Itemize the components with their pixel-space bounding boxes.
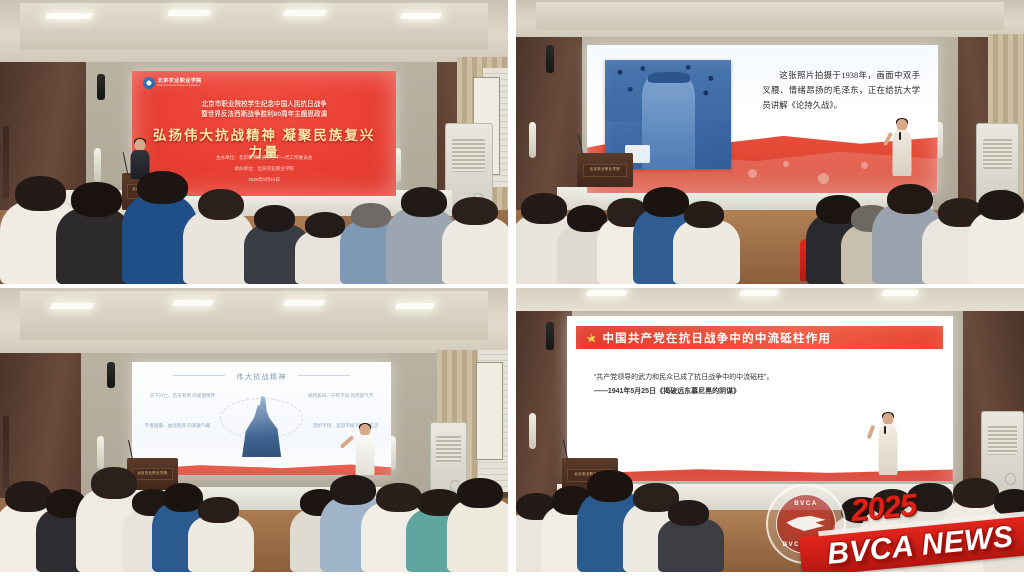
ceiling-light — [283, 300, 326, 306]
wall-strip-light — [94, 148, 101, 182]
slide-paragraph: 这张照片拍摄于1938年，画面中双手叉腰、情绪昂扬的毛泽东，正在给抗大学员讲解《… — [762, 69, 920, 114]
speaker-body — [131, 150, 150, 179]
podium-nameplate: 北京农业职业学院 — [132, 468, 173, 481]
slide-credit-line: 主办单位：北京教育系统关心下一代工作委员会 — [153, 152, 375, 163]
college-logo-mark — [143, 77, 155, 89]
ceiling-light — [171, 300, 214, 306]
lecturer — [887, 119, 917, 176]
ac-vent — [988, 426, 1017, 455]
stage-front-edge — [102, 487, 407, 510]
podium-nameplate-text: 北京农业职业学院 — [568, 470, 611, 478]
slide-subtitle-line: 暨世界反法西斯战争胜利80周年主题思政课 — [148, 110, 380, 120]
podium-nameplate-text: 北京农业职业学院 — [128, 185, 167, 193]
ac-knob — [472, 193, 484, 207]
ceiling-light — [586, 290, 629, 296]
ceiling-light — [44, 13, 93, 19]
ac-vent — [452, 139, 485, 172]
podium-nameplate-text: 北京农业职业学院 — [584, 165, 627, 173]
slide-credit-line: 承办单位：北京农业职业学院 — [153, 163, 375, 174]
ac-knob — [450, 480, 460, 492]
podium-nameplate-text: 北京农业职业学院 — [133, 469, 172, 477]
wall-speaker — [546, 322, 554, 350]
quadrant-label-top-left: 天下兴亡、匹夫有责 的爱国情怀 — [148, 392, 218, 400]
ceiling-slab — [20, 291, 487, 340]
air-conditioner — [445, 123, 493, 222]
lecturer-body — [355, 435, 374, 475]
ceiling — [516, 0, 1024, 40]
photograph-figure-cap — [648, 72, 691, 83]
ceiling — [0, 0, 508, 65]
slide-subtitle: 北京市职业院校学生纪念中国人民抗日战争 暨世界反法西斯战争胜利80周年主题思政课 — [148, 100, 380, 120]
podium-nameplate: 北京农业职业学院 — [127, 184, 168, 199]
podium-nameplate: 北京农业职业学院 — [583, 164, 628, 178]
quadrant-label-top-right: 视死如归、宁死不屈 的民族气节 — [306, 392, 376, 400]
podium: 北京农业职业学院 — [127, 458, 178, 489]
wall-scroll-artwork — [476, 362, 503, 461]
ceiling-light — [400, 13, 443, 19]
ac-vent — [436, 436, 462, 463]
lecturer-body — [878, 424, 897, 475]
floor-aisle — [679, 510, 831, 572]
party-emblem-icon — [585, 332, 596, 343]
slide-heading: 伟大抗战精神 — [132, 372, 391, 382]
wall-strip-light — [529, 413, 536, 449]
ceiling — [0, 288, 508, 356]
microphone — [884, 426, 887, 434]
podium: 北京农业职业学院 — [577, 153, 633, 187]
air-conditioner — [430, 422, 468, 504]
collage-panel-bottom-left[interactable]: 伟大抗战精神 天下兴亡、匹夫有责 的爱国情怀 视死如归、宁死不屈 的民族气节 不… — [0, 288, 508, 572]
ceiling — [516, 288, 1024, 314]
ceiling-light — [166, 10, 211, 16]
collage-panel-bottom-right[interactable]: 中国共产党在抗日战争中的中流砥柱作用 “共产党领导的武力和民众已成了抗日战争中的… — [516, 288, 1024, 572]
ceiling-slab — [536, 2, 1003, 31]
ac-knob — [1000, 189, 1011, 202]
slide-quote: “共产党领导的武力和民众已成了抗日战争中的中流砥柱”。 — [594, 371, 922, 386]
lecturer-body — [892, 130, 911, 176]
college-logo-name-en: Beijing Vocational College of Agricultur… — [158, 85, 202, 87]
slide-citation: ——1941年5月25日《揭破远东慕尼黑的阴谋》 — [594, 386, 740, 396]
wall-speaker — [546, 45, 554, 73]
slide-title: 中国共产党在抗日战争中的中流砥柱作用 — [602, 330, 831, 346]
slide-title-bar: 中国共产党在抗日战争中的中流砥柱作用 — [576, 326, 943, 349]
slide-credit-date: 2025年9月15日 — [153, 174, 375, 185]
floor-aisle — [709, 210, 821, 284]
lecturer — [872, 413, 904, 475]
ceiling-light — [738, 290, 779, 296]
left-wood-wall — [0, 353, 81, 509]
ceiling-light — [880, 290, 919, 296]
ac-vent — [983, 139, 1012, 170]
ceiling-slab — [20, 3, 487, 50]
quadrant-label-bottom-left: 不畏强暴、血战到底 的英雄气概 — [142, 422, 212, 430]
lecturer — [351, 424, 379, 475]
wall-strip-light — [529, 122, 536, 158]
ceiling-light — [49, 303, 94, 309]
ceiling-light — [395, 303, 436, 309]
college-logo: 北京农业职业学院 Beijing Vocational College of A… — [143, 77, 202, 89]
slide-subtitle-line: 北京市职业院校学生纪念中国人民抗日战争 — [148, 100, 380, 110]
slide-credits: 主办单位：北京教育系统关心下一代工作委员会 承办单位：北京农业职业学院 2025… — [153, 152, 375, 186]
slide-heading-text: 伟大抗战精神 — [228, 372, 294, 382]
podium: 北京农业职业学院 — [562, 458, 618, 492]
door — [3, 126, 9, 199]
wall-strip-light — [97, 436, 104, 470]
podium-nameplate: 北京农业职业学院 — [567, 469, 612, 483]
wall-speaker — [97, 74, 105, 100]
projection-screen: 这张照片拍摄于1938年，画面中双手叉腰、情绪昂扬的毛泽东，正在给抗大学员讲解《… — [587, 45, 938, 193]
microphone — [899, 132, 902, 140]
door — [3, 416, 9, 488]
photograph-figure — [642, 76, 695, 170]
photo-collage-grid: 北京农业职业学院 Beijing Vocational College of A… — [0, 0, 1024, 576]
floor-aisle — [183, 210, 325, 284]
collage-panel-top-left[interactable]: 北京农业职业学院 Beijing Vocational College of A… — [0, 0, 508, 284]
wall-speaker — [107, 362, 115, 388]
air-conditioner — [981, 411, 1024, 498]
speaker-at-podium — [127, 139, 153, 179]
heading-rule-left — [173, 375, 225, 376]
air-conditioner — [976, 123, 1019, 216]
bokeh-dot — [783, 161, 789, 167]
ceiling-light — [283, 10, 328, 16]
heading-rule-right — [298, 375, 350, 376]
collage-panel-top-right[interactable]: 这张照片拍摄于1938年，画面中双手叉腰、情绪昂扬的毛泽东，正在给抗大学员讲解《… — [516, 0, 1024, 284]
ac-knob — [1005, 473, 1016, 485]
